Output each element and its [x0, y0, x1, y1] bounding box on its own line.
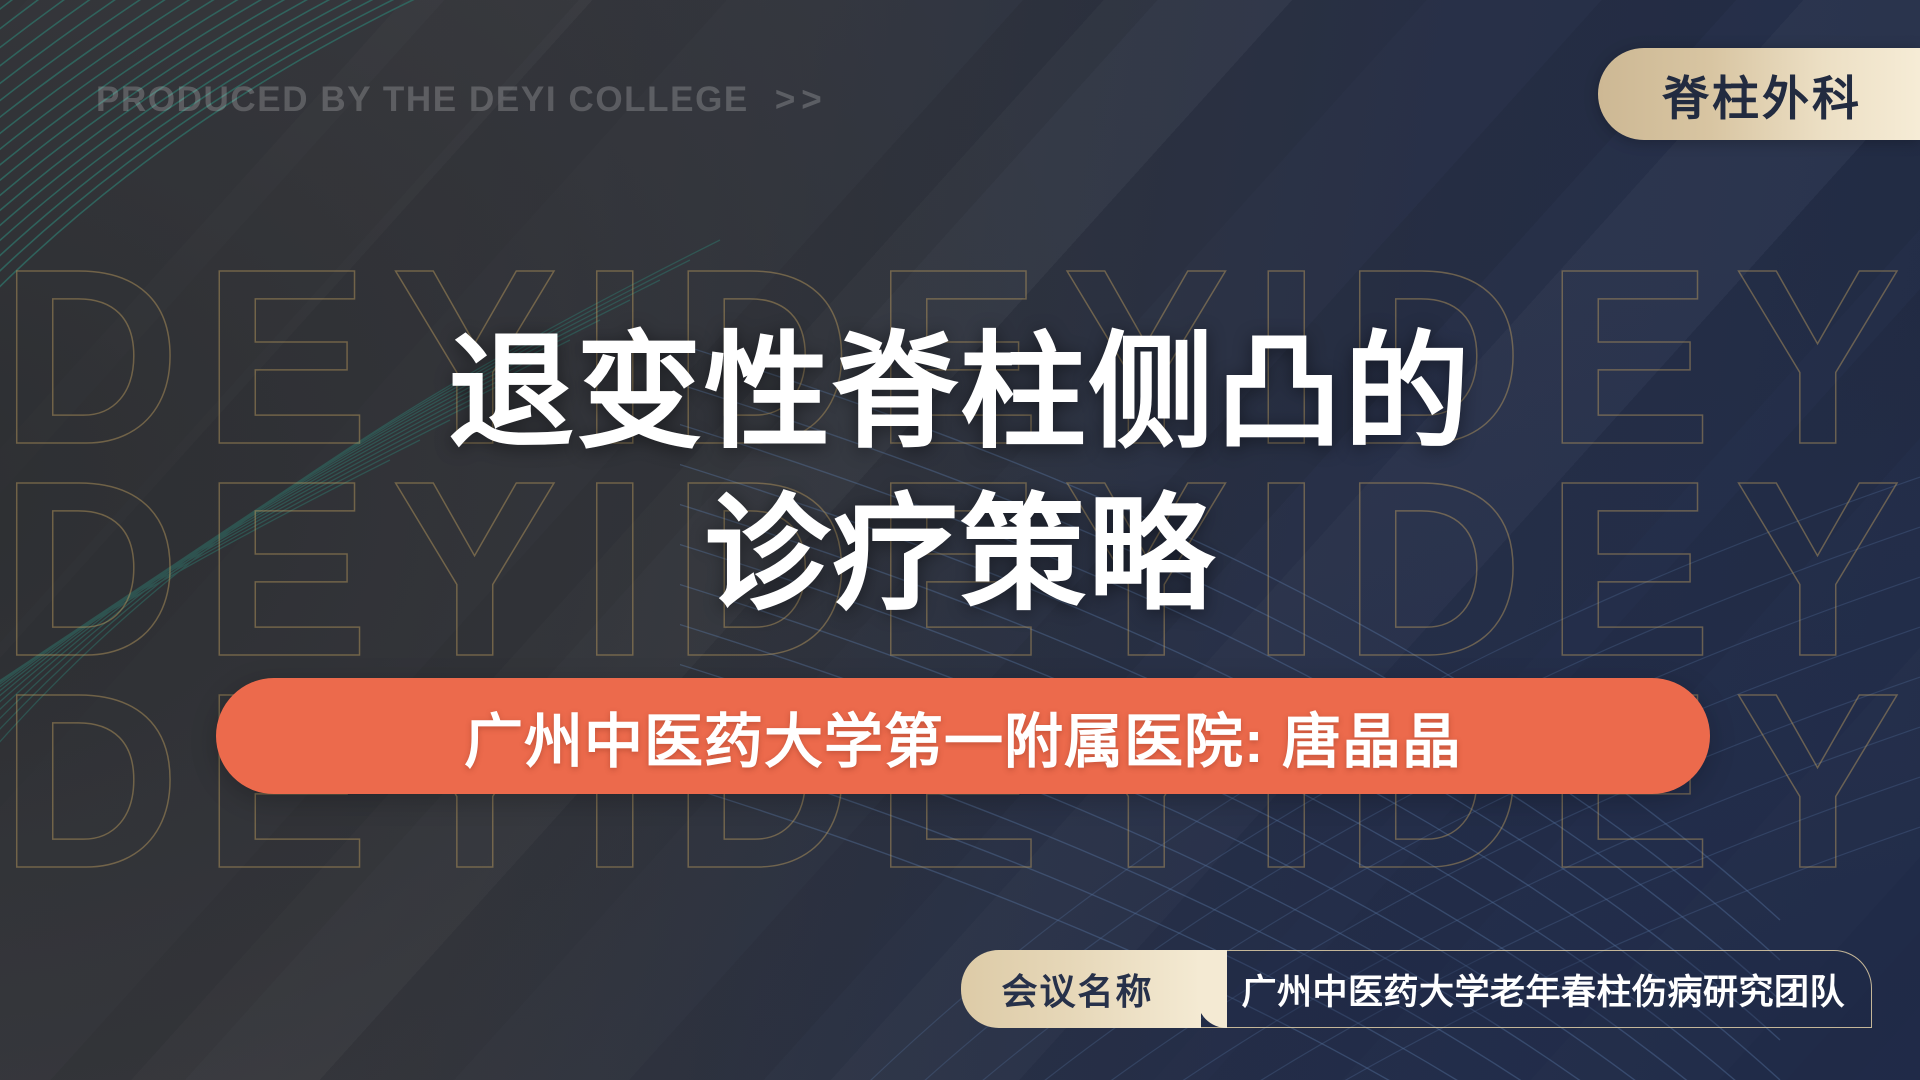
department-badge-label: 脊柱外科 — [1662, 60, 1862, 129]
presenter-pill-text: 广州中医药大学第一附属医院: 唐晶晶 — [464, 694, 1462, 779]
presenter-pill: 广州中医药大学第一附属医院: 唐晶晶 — [216, 678, 1710, 794]
footer-meeting-name: 广州中医药大学老年春柱伤病研究团队 — [1241, 964, 1845, 1015]
page-title: 退变性脊柱侧凸的 诊疗策略 — [0, 312, 1920, 635]
header-kicker-text: PRODUCED BY THE DEYI COLLEGE — [96, 80, 749, 119]
footer-meeting-bar: 会议名称 广州中医药大学老年春柱伤病研究团队 — [961, 950, 1872, 1028]
department-badge: 脊柱外科 — [1598, 48, 1920, 140]
footer-meeting-name-box: 广州中医药大学老年春柱伤病研究团队 — [1197, 950, 1872, 1028]
footer-chip-label: 会议名称 — [1001, 963, 1153, 1015]
footer-chip: 会议名称 — [961, 950, 1201, 1028]
chevron-right-double-icon: >> — [775, 80, 828, 119]
presentation-title-slide: DEYIDEYIDEYI DEYIDEYIDEYI DEYIDEYIDEYI P… — [0, 0, 1920, 1080]
header-kicker: PRODUCED BY THE DEYI COLLEGE>> — [96, 80, 828, 120]
page-title-line-2: 诊疗策略 — [0, 474, 1920, 635]
page-title-line-1: 退变性脊柱侧凸的 — [448, 322, 1472, 463]
